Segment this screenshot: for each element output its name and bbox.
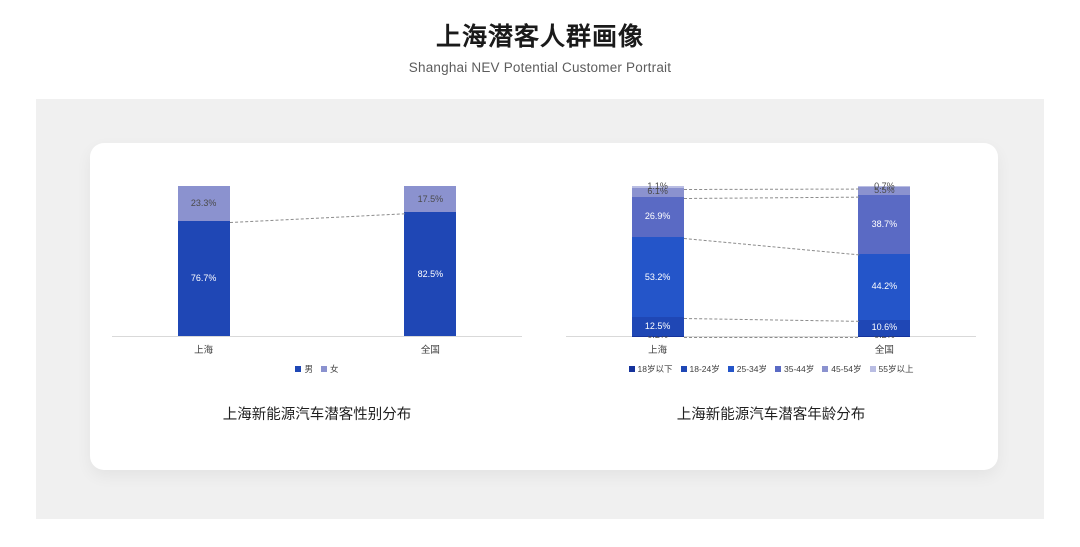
segment-value-label: 82.5% xyxy=(418,270,444,279)
connector-line xyxy=(684,196,859,198)
plot-area-gender: 76.7%23.3%82.5%17.5% xyxy=(112,187,522,337)
legend-age: 18岁以下18-24岁25-34岁35-44岁45-54岁55岁以上 xyxy=(544,363,998,375)
connector-line xyxy=(684,188,859,189)
chart-age: 0.2%12.5%53.2%26.9%6.1%1.1%0.2%10.6%44.2… xyxy=(544,143,998,470)
bar-segment: 82.5% xyxy=(404,212,456,336)
legend-gender: 男女 xyxy=(90,363,544,375)
segment-value-label: 17.5% xyxy=(418,195,444,204)
legend-item[interactable]: 35-44岁 xyxy=(775,363,814,375)
page-subtitle: Shanghai NEV Potential Customer Portrait xyxy=(0,60,1080,75)
legend-swatch-icon xyxy=(295,366,301,372)
x-tick-shanghai: 上海 xyxy=(178,342,230,356)
legend-item[interactable]: 25-34岁 xyxy=(728,363,767,375)
bar-segment: 23.3% xyxy=(178,186,230,221)
legend-item[interactable]: 18-24岁 xyxy=(681,363,720,375)
legend-swatch-icon xyxy=(775,366,781,372)
stacked-bar-上海: 0.2%12.5%53.2%26.9%6.1%1.1% xyxy=(632,186,684,336)
legend-swatch-icon xyxy=(870,366,876,372)
stacked-bar-全国: 82.5%17.5% xyxy=(404,186,456,336)
bar-segment: 17.5% xyxy=(404,186,456,212)
legend-swatch-icon xyxy=(728,366,734,372)
segment-value-label: 10.6% xyxy=(872,323,898,332)
legend-label: 18岁以下 xyxy=(638,363,673,375)
segment-value-label: 53.2% xyxy=(645,273,671,282)
bar-segment: 76.7% xyxy=(178,221,230,336)
segment-value-label: 1.1% xyxy=(647,182,668,191)
legend-label: 25-34岁 xyxy=(737,363,767,375)
x-tick-national: 全国 xyxy=(404,342,456,356)
segment-value-label: 44.2% xyxy=(872,282,898,291)
x-tick-labels-gender: 上海 全国 xyxy=(112,337,522,357)
chart-gender: 76.7%23.3%82.5%17.5% 上海 全国 男女 上海新能源汽车潜客性… xyxy=(90,143,544,470)
x-tick-shanghai: 上海 xyxy=(632,342,684,356)
connector-line xyxy=(230,213,405,223)
legend-item[interactable]: 45-54岁 xyxy=(822,363,861,375)
legend-label: 35-44岁 xyxy=(784,363,814,375)
connector-line xyxy=(684,238,859,255)
bar-segment: 1.1% xyxy=(632,186,684,188)
connector-line xyxy=(684,318,859,322)
bar-segment: 12.5% xyxy=(632,317,684,336)
chart-caption-age: 上海新能源汽车潜客年龄分布 xyxy=(544,403,998,424)
stacked-bar-全国: 0.2%10.6%44.2%38.7%5.5%0.7% xyxy=(858,186,910,336)
bar-segment: 53.2% xyxy=(632,237,684,317)
legend-swatch-icon xyxy=(629,366,635,372)
page-root: 上海潜客人群画像 Shanghai NEV Potential Customer… xyxy=(0,0,1080,547)
bar-segment: 26.9% xyxy=(632,197,684,237)
segment-value-label: 12.5% xyxy=(645,322,671,331)
legend-item[interactable]: 18岁以下 xyxy=(629,363,673,375)
bar-segment: 44.2% xyxy=(858,254,910,320)
legend-label: 女 xyxy=(330,363,339,375)
plot-area-age: 0.2%12.5%53.2%26.9%6.1%1.1%0.2%10.6%44.2… xyxy=(566,187,976,337)
segment-value-label: 0.7% xyxy=(874,182,895,191)
segment-value-label: 76.7% xyxy=(191,274,217,283)
legend-swatch-icon xyxy=(822,366,828,372)
legend-item[interactable]: 55岁以上 xyxy=(870,363,914,375)
chart-caption-gender: 上海新能源汽车潜客性别分布 xyxy=(90,403,544,424)
legend-item[interactable]: 男 xyxy=(295,363,313,375)
bar-segment: 10.6% xyxy=(858,320,910,336)
segment-value-label: 23.3% xyxy=(191,199,217,208)
bar-segment: 0.7% xyxy=(858,186,910,187)
legend-item[interactable]: 女 xyxy=(321,363,339,375)
stacked-bar-上海: 76.7%23.3% xyxy=(178,186,230,336)
segment-value-label: 26.9% xyxy=(645,212,671,221)
page-title: 上海潜客人群画像 xyxy=(0,22,1080,53)
legend-label: 45-54岁 xyxy=(831,363,861,375)
page-header: 上海潜客人群画像 Shanghai NEV Potential Customer… xyxy=(0,0,1080,75)
legend-swatch-icon xyxy=(681,366,687,372)
legend-swatch-icon xyxy=(321,366,327,372)
x-tick-labels-age: 上海 全国 xyxy=(566,337,976,357)
legend-label: 55岁以上 xyxy=(879,363,914,375)
x-tick-national: 全国 xyxy=(858,342,910,356)
segment-value-label: 38.7% xyxy=(872,220,898,229)
legend-label: 男 xyxy=(304,363,313,375)
charts-container: 76.7%23.3%82.5%17.5% 上海 全国 男女 上海新能源汽车潜客性… xyxy=(90,143,998,470)
legend-label: 18-24岁 xyxy=(690,363,720,375)
bar-segment: 38.7% xyxy=(858,195,910,253)
